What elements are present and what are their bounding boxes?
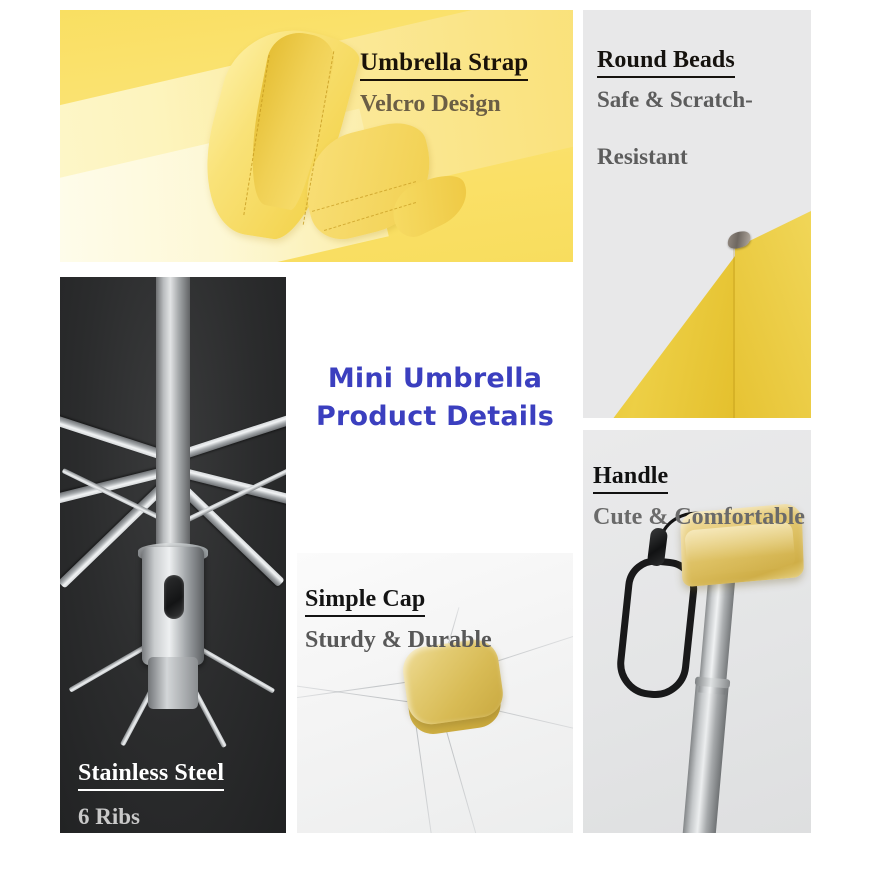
panel-umbrella-strap: Umbrella Strap Velcro Design xyxy=(60,10,573,262)
page-title: Mini Umbrella Product Details xyxy=(297,360,573,437)
round-beads-subtitle-line2: Resistant xyxy=(597,143,807,171)
panel-simple-cap: Simple Cap Sturdy & Durable xyxy=(297,553,573,833)
umbrella-hub-release-button xyxy=(164,575,184,619)
umbrella-strap-caption: Umbrella Strap Velcro Design xyxy=(360,28,570,139)
canopy-seam xyxy=(733,246,735,418)
umbrella-strap-title: Umbrella Strap xyxy=(360,48,528,82)
simple-cap-subtitle: Sturdy & Durable xyxy=(305,626,555,655)
panel-stainless-steel: Stainless Steel 6 Ribs xyxy=(60,277,286,833)
umbrella-hub-lower-runner xyxy=(148,657,198,709)
round-beads-caption: Round Beads Safe & Scratch- Resistant xyxy=(597,26,807,191)
umbrella-strap-subtitle: Velcro Design xyxy=(360,90,570,119)
handle-title: Handle xyxy=(593,462,668,494)
umbrella-center-shaft xyxy=(156,277,190,583)
stainless-steel-caption: Stainless Steel 6 Ribs xyxy=(78,739,278,833)
round-beads-subtitle-line1: Safe & Scratch- xyxy=(597,86,807,114)
infographic-canvas: Umbrella Strap Velcro Design Round Beads… xyxy=(0,0,870,870)
stainless-steel-title: Stainless Steel xyxy=(78,759,224,791)
canopy-seam-3 xyxy=(414,720,433,833)
panel-handle: Handle Cute & Comfortable xyxy=(583,430,811,833)
simple-cap-title: Simple Cap xyxy=(305,585,425,617)
canopy-seam-4 xyxy=(442,720,477,833)
canopy-seam-6 xyxy=(297,681,409,699)
handle-caption: Handle Cute & Comfortable xyxy=(593,442,811,552)
stainless-steel-subtitle: 6 Ribs xyxy=(78,803,278,831)
handle-subtitle: Cute & Comfortable xyxy=(593,503,811,532)
round-beads-title: Round Beads xyxy=(597,46,735,78)
simple-cap-caption: Simple Cap Sturdy & Durable xyxy=(305,565,555,675)
panel-round-beads: Round Beads Safe & Scratch- Resistant xyxy=(583,10,811,418)
